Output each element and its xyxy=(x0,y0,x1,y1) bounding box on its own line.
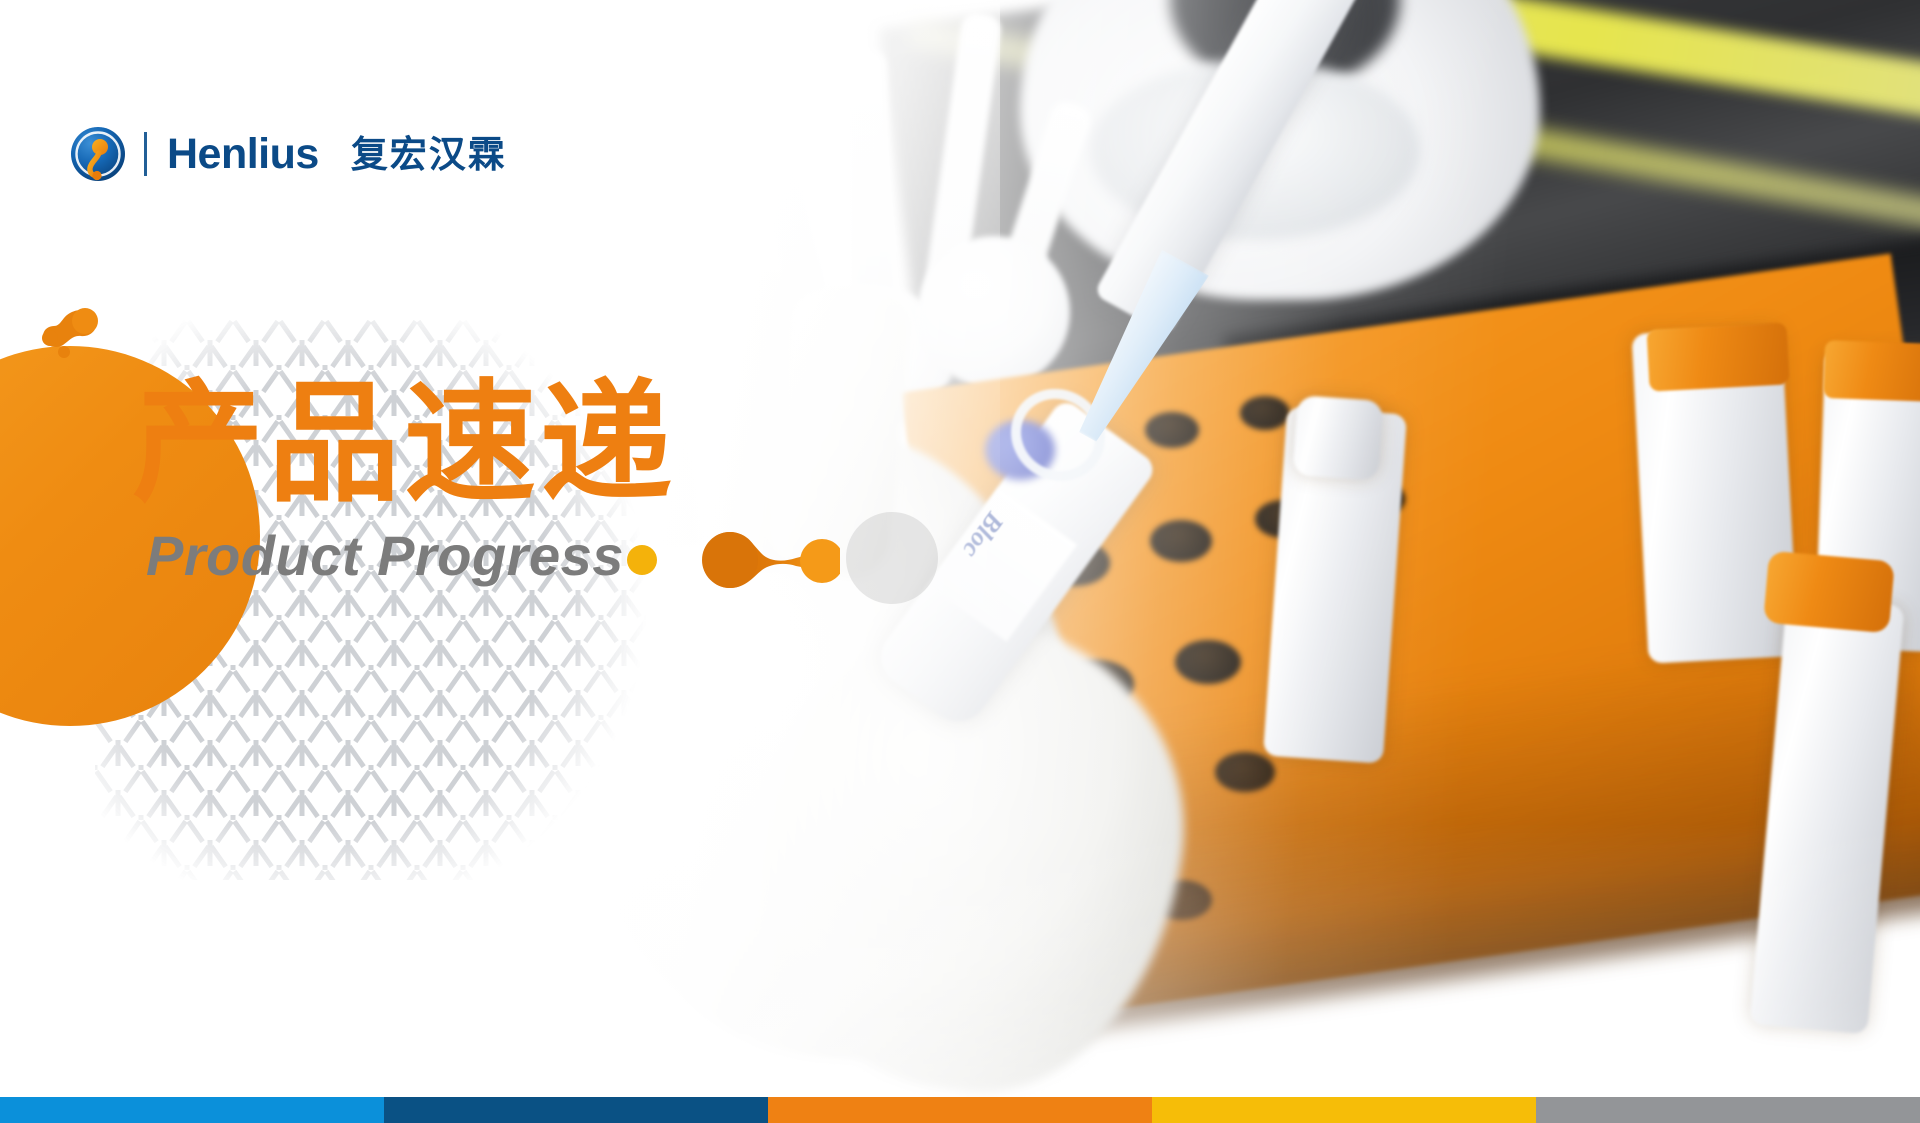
bar-segment-orange xyxy=(768,1097,1152,1123)
brand-logo[interactable]: Henlius 复宏汉霖 xyxy=(70,126,507,182)
molecule-dot-accent xyxy=(627,545,657,575)
bottom-color-bar xyxy=(0,1097,1920,1123)
logo-divider xyxy=(144,132,147,176)
grey-accent-circle xyxy=(846,512,938,604)
page-title-chinese: 产品速递 xyxy=(132,378,676,510)
logo-chinese-name: 复宏汉霖 xyxy=(351,136,507,173)
molecule-accent-small xyxy=(33,305,125,363)
logo-wordmark: Henlius xyxy=(167,133,319,176)
henlius-logo-icon xyxy=(70,126,126,182)
bar-segment-yellow xyxy=(1152,1097,1536,1123)
bar-segment-dark-blue xyxy=(384,1097,768,1123)
bar-segment-grey xyxy=(1536,1097,1920,1123)
title-slide: Bloc xyxy=(0,0,1920,1123)
page-title-english: Product Progress xyxy=(146,528,624,584)
bar-segment-light-blue xyxy=(0,1097,384,1123)
molecule-accent-large xyxy=(700,520,840,600)
